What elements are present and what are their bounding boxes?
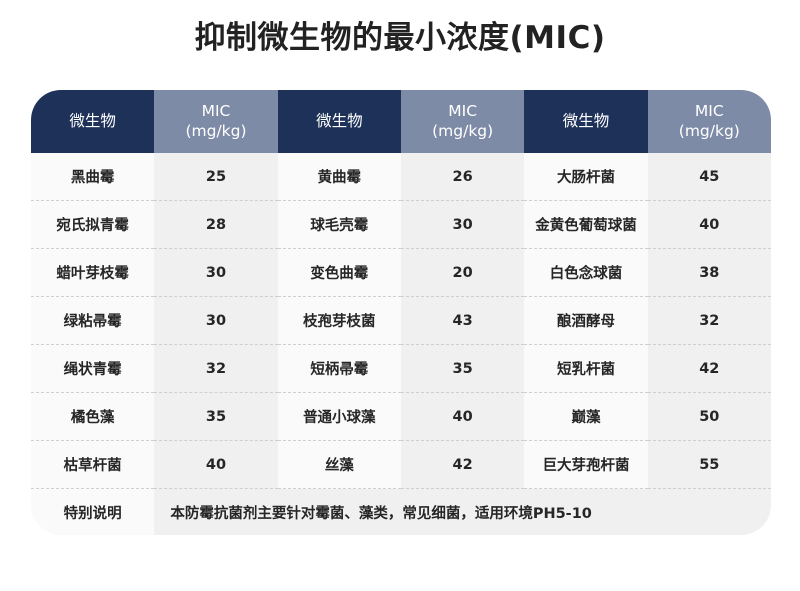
cell-microbe-name: 宛氏拟青霉 (31, 201, 154, 249)
column-header-mic-2-line1: MIC (401, 102, 524, 121)
cell-microbe-name: 球毛壳霉 (278, 201, 401, 249)
column-header-mic-2-line2: (mg/kg) (401, 122, 524, 141)
cell-microbe-name: 绳状青霉 (31, 345, 154, 393)
table-row: 宛氏拟青霉 28 球毛壳霉 30 金黄色葡萄球菌 40 (31, 201, 771, 249)
cell-microbe-name: 短乳杆菌 (524, 345, 647, 393)
page-title: 抑制微生物的最小浓度(MIC) (0, 16, 800, 60)
table-header-row: 微生物 MIC (mg/kg) 微生物 MIC (mg/kg) 微生物 MIC … (31, 90, 771, 153)
column-header-microbe-3: 微生物 (524, 90, 647, 153)
table-footer-row: 特别说明 本防霉抗菌剂主要针对霉菌、藻类，常见细菌，适用环境PH5-10 (31, 489, 771, 536)
cell-mic-value: 30 (154, 249, 277, 297)
cell-mic-value: 32 (648, 297, 771, 345)
cell-mic-value: 30 (401, 201, 524, 249)
cell-microbe-name: 巅藻 (524, 393, 647, 441)
cell-mic-value: 40 (154, 441, 277, 489)
mic-table-container: 微生物 MIC (mg/kg) 微生物 MIC (mg/kg) 微生物 MIC … (31, 90, 771, 535)
column-header-mic-3-line1: MIC (648, 102, 771, 121)
cell-microbe-name: 绿粘帚霉 (31, 297, 154, 345)
cell-mic-value: 28 (154, 201, 277, 249)
footer-note: 本防霉抗菌剂主要针对霉菌、藻类，常见细菌，适用环境PH5-10 (154, 489, 771, 536)
cell-microbe-name: 普通小球藻 (278, 393, 401, 441)
cell-mic-value: 30 (154, 297, 277, 345)
cell-microbe-name: 丝藻 (278, 441, 401, 489)
cell-mic-value: 35 (401, 345, 524, 393)
table-body: 黑曲霉 25 黄曲霉 26 大肠杆菌 45 宛氏拟青霉 28 球毛壳霉 30 金… (31, 153, 771, 535)
column-header-mic-3-line2: (mg/kg) (648, 122, 771, 141)
cell-mic-value: 40 (648, 201, 771, 249)
table-header: 微生物 MIC (mg/kg) 微生物 MIC (mg/kg) 微生物 MIC … (31, 90, 771, 153)
cell-microbe-name: 橘色藻 (31, 393, 154, 441)
cell-microbe-name: 枯草杆菌 (31, 441, 154, 489)
cell-mic-value: 20 (401, 249, 524, 297)
cell-mic-value: 43 (401, 297, 524, 345)
cell-mic-value: 25 (154, 153, 277, 201)
footer-label: 特别说明 (31, 489, 154, 536)
cell-mic-value: 42 (401, 441, 524, 489)
cell-microbe-name: 枝孢芽枝菌 (278, 297, 401, 345)
page-root: 抑制微生物的最小浓度(MIC) 微生物 MIC (mg/kg) 微生物 MIC … (0, 0, 800, 591)
column-header-mic-1: MIC (mg/kg) (154, 90, 277, 153)
table-row: 蜡叶芽枝霉 30 变色曲霉 20 白色念球菌 38 (31, 249, 771, 297)
cell-microbe-name: 白色念球菌 (524, 249, 647, 297)
cell-microbe-name: 大肠杆菌 (524, 153, 647, 201)
column-header-mic-3: MIC (mg/kg) (648, 90, 771, 153)
column-header-microbe-1: 微生物 (31, 90, 154, 153)
column-header-mic-1-line1: MIC (154, 102, 277, 121)
cell-mic-value: 42 (648, 345, 771, 393)
cell-microbe-name: 金黄色葡萄球菌 (524, 201, 647, 249)
cell-microbe-name: 黄曲霉 (278, 153, 401, 201)
cell-microbe-name: 变色曲霉 (278, 249, 401, 297)
cell-mic-value: 38 (648, 249, 771, 297)
cell-mic-value: 32 (154, 345, 277, 393)
cell-mic-value: 45 (648, 153, 771, 201)
table-row: 绿粘帚霉 30 枝孢芽枝菌 43 酿酒酵母 32 (31, 297, 771, 345)
cell-mic-value: 35 (154, 393, 277, 441)
cell-mic-value: 55 (648, 441, 771, 489)
cell-microbe-name: 蜡叶芽枝霉 (31, 249, 154, 297)
table-row: 橘色藻 35 普通小球藻 40 巅藻 50 (31, 393, 771, 441)
cell-microbe-name: 酿酒酵母 (524, 297, 647, 345)
mic-table: 微生物 MIC (mg/kg) 微生物 MIC (mg/kg) 微生物 MIC … (31, 90, 771, 535)
cell-microbe-name: 短柄帚霉 (278, 345, 401, 393)
cell-mic-value: 40 (401, 393, 524, 441)
cell-microbe-name: 巨大芽孢杆菌 (524, 441, 647, 489)
column-header-microbe-2: 微生物 (278, 90, 401, 153)
cell-microbe-name: 黑曲霉 (31, 153, 154, 201)
table-row: 枯草杆菌 40 丝藻 42 巨大芽孢杆菌 55 (31, 441, 771, 489)
table-row: 绳状青霉 32 短柄帚霉 35 短乳杆菌 42 (31, 345, 771, 393)
cell-mic-value: 50 (648, 393, 771, 441)
cell-mic-value: 26 (401, 153, 524, 201)
column-header-mic-1-line2: (mg/kg) (154, 122, 277, 141)
table-row: 黑曲霉 25 黄曲霉 26 大肠杆菌 45 (31, 153, 771, 201)
column-header-mic-2: MIC (mg/kg) (401, 90, 524, 153)
